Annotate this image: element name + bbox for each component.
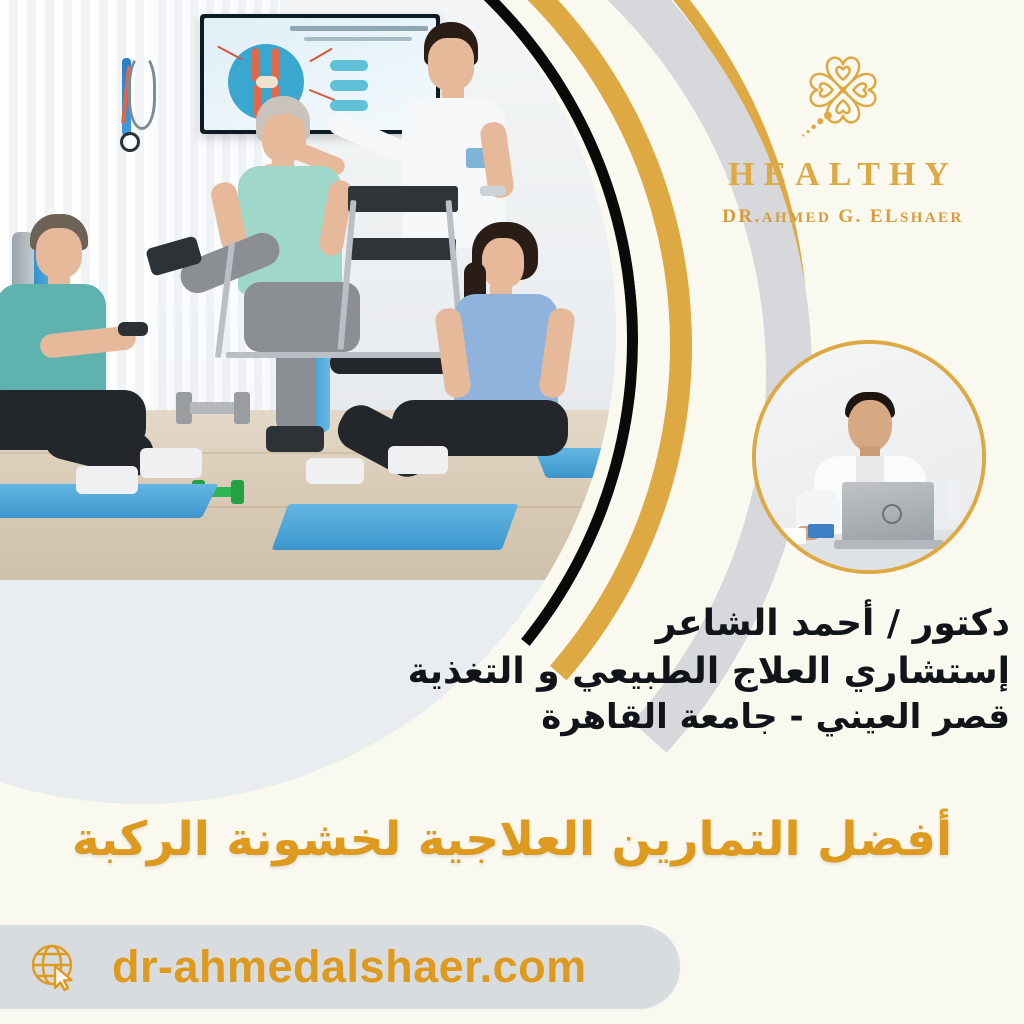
brand-sub-surname-lead: EL bbox=[870, 206, 900, 227]
portrait-papers bbox=[772, 528, 806, 544]
portrait-face bbox=[848, 400, 892, 452]
portrait-bottle bbox=[948, 480, 960, 520]
resistance-band-loop bbox=[128, 54, 156, 130]
tv-bullet-2 bbox=[330, 80, 368, 91]
man-shoe-right bbox=[140, 448, 202, 478]
credential-specialty: إستشاري العلاج الطبيعي و التغذية bbox=[250, 648, 1010, 696]
brand-name: HEALTHY bbox=[678, 156, 1008, 194]
young-face bbox=[482, 238, 524, 288]
globe-cursor-icon bbox=[28, 941, 80, 993]
credential-institution: قصر العيني - جامعة القاهرة bbox=[250, 695, 1010, 740]
young-top bbox=[454, 294, 558, 416]
doctor-portrait bbox=[752, 340, 986, 574]
therapist-wristwatch bbox=[480, 186, 506, 196]
brand-sub-initial: G. bbox=[838, 206, 862, 227]
page-title: أفضل التمارين العلاجية لخشونة الركبة bbox=[0, 812, 1024, 867]
portrait-laptop-base bbox=[834, 540, 944, 549]
chair-seat bbox=[350, 238, 456, 260]
tv-title-bar bbox=[290, 26, 428, 31]
knee-arrow-3 bbox=[309, 89, 336, 101]
dumbbell-bar bbox=[190, 402, 236, 414]
senior-leg-standing bbox=[276, 336, 316, 434]
brand-logo-block: HEALTHY DR.AHMED G. ELSHAER bbox=[678, 38, 1008, 228]
tv-subtitle-bar bbox=[304, 37, 412, 41]
yoga-mat-right bbox=[272, 504, 519, 550]
four-heart-clover-logo bbox=[791, 38, 895, 142]
knee-patella bbox=[256, 76, 278, 88]
therapist-face bbox=[428, 38, 474, 90]
dumbbell-end-right bbox=[234, 392, 250, 424]
chair-backrest bbox=[348, 186, 458, 212]
brand-subtitle: DR.AHMED G. ELSHAER bbox=[678, 206, 1008, 228]
young-shoe-left bbox=[306, 458, 364, 484]
brand-sub-surname-rest: SHAER bbox=[900, 210, 964, 226]
credential-name: دكتور / أحمد الشاعر bbox=[250, 600, 1010, 648]
brand-sub-prefix: DR. bbox=[722, 206, 761, 227]
website-bar[interactable]: dr-ahmedalshaer.com bbox=[0, 925, 680, 1009]
hero-photo bbox=[0, 0, 616, 580]
website-url[interactable]: dr-ahmedalshaer.com bbox=[112, 941, 587, 993]
resistance-band-ring bbox=[120, 132, 140, 152]
knee-arrow-2 bbox=[309, 48, 333, 63]
doctor-credentials: دكتور / أحمد الشاعر إستشاري العلاج الطبي… bbox=[250, 600, 1010, 740]
man-wristband bbox=[118, 322, 148, 336]
tv-bullet-1 bbox=[330, 60, 368, 71]
tv-bullet-3 bbox=[330, 100, 368, 111]
brand-sub-first: AHMED bbox=[762, 210, 832, 226]
chair-crossbar bbox=[226, 352, 456, 358]
knee-arrow-1 bbox=[217, 46, 243, 61]
man-shoe-left bbox=[76, 466, 138, 494]
tv-screen bbox=[204, 18, 436, 130]
senior-shoe-standing bbox=[266, 426, 324, 452]
portrait-desk-box bbox=[808, 524, 834, 538]
poster-canvas: HEALTHY DR.AHMED G. ELSHAER دكتور / أحمد… bbox=[0, 0, 1024, 1024]
young-shoe-right bbox=[388, 446, 448, 474]
man-face bbox=[36, 228, 82, 278]
laptop-brand-icon bbox=[882, 504, 902, 524]
dumbbell-green-end-right bbox=[231, 480, 244, 504]
